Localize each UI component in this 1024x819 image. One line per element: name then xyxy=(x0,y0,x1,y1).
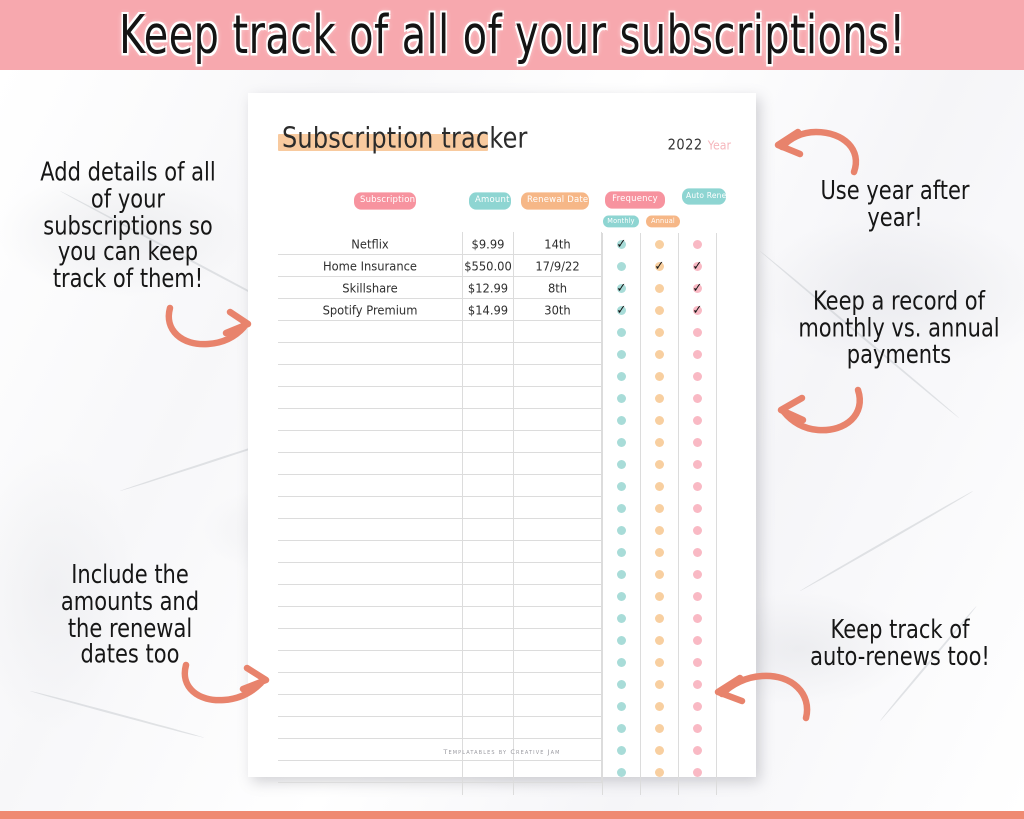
dot-marker xyxy=(655,416,664,425)
dot-marker xyxy=(617,724,626,733)
dot-marker xyxy=(693,438,702,447)
cell-renewal-date[interactable] xyxy=(513,474,602,497)
checkbox-monthly[interactable] xyxy=(602,255,640,277)
column-header-auto-renew: Auto Renew? xyxy=(682,188,726,204)
dot-marker xyxy=(655,350,664,359)
checkbox-monthly[interactable] xyxy=(602,365,640,387)
table-row[interactable] xyxy=(278,607,602,629)
table-row[interactable] xyxy=(278,431,602,453)
table-row[interactable] xyxy=(278,563,602,585)
cell-renewal-date[interactable] xyxy=(513,584,602,607)
checkbox-monthly[interactable] xyxy=(602,651,640,673)
column-divider xyxy=(513,233,514,795)
dot-marker xyxy=(655,592,664,601)
checkbox-monthly[interactable] xyxy=(602,673,640,695)
dot-marker xyxy=(693,548,702,557)
checkbox-annual[interactable] xyxy=(640,431,678,453)
checkbox-monthly[interactable]: ✓ xyxy=(602,299,640,321)
table-row[interactable] xyxy=(278,585,602,607)
frequency-annual-column: ✓ xyxy=(640,233,678,795)
cell-amount[interactable]: $550.00 xyxy=(462,254,513,277)
banner-headline: Keep track of all of your subscriptions! xyxy=(119,4,906,66)
checkmark-icon: ✓ xyxy=(692,282,702,295)
cell-amount[interactable] xyxy=(462,584,513,607)
checkbox-monthly[interactable] xyxy=(602,695,640,717)
dot-marker xyxy=(693,592,702,601)
dot-marker xyxy=(655,548,664,557)
frequency-monthly-column: ✓✓✓ xyxy=(602,233,640,795)
checkbox-annual[interactable] xyxy=(640,695,678,717)
cell-amount[interactable] xyxy=(462,628,513,651)
cell-renewal-date[interactable] xyxy=(513,430,602,453)
dot-marker xyxy=(655,372,664,381)
dot-marker xyxy=(693,724,702,733)
cell-amount[interactable]: $14.99 xyxy=(462,298,513,321)
dot-marker xyxy=(655,614,664,623)
dot-marker xyxy=(617,328,626,337)
cell-renewal-date[interactable]: 14th xyxy=(513,232,602,255)
dot-marker xyxy=(617,658,626,667)
checkbox-annual[interactable] xyxy=(640,453,678,475)
checkmark-icon: ✓ xyxy=(616,238,626,251)
checkbox-monthly[interactable] xyxy=(602,563,640,585)
checkbox-auto-renew[interactable] xyxy=(678,453,716,475)
checkbox-auto-renew[interactable] xyxy=(678,563,716,585)
cell-amount[interactable] xyxy=(462,386,513,409)
checkbox-annual[interactable] xyxy=(640,673,678,695)
checkbox-annual[interactable] xyxy=(640,651,678,673)
checkbox-monthly[interactable]: ✓ xyxy=(602,277,640,299)
page-title: Subscription tracker xyxy=(282,121,528,154)
checkbox-auto-renew[interactable] xyxy=(678,585,716,607)
table-row[interactable] xyxy=(278,695,602,717)
dot-marker xyxy=(693,328,702,337)
column-header-renewal-date: Renewal Date xyxy=(521,192,589,210)
cell-renewal-date[interactable] xyxy=(513,342,602,365)
checkbox-annual[interactable] xyxy=(640,629,678,651)
checkbox-auto-renew[interactable] xyxy=(678,497,716,519)
checkbox-monthly[interactable] xyxy=(602,629,640,651)
cell-renewal-date[interactable] xyxy=(513,650,602,673)
dot-marker xyxy=(617,394,626,403)
checkmark-icon: ✓ xyxy=(616,304,626,317)
year-label: Year xyxy=(708,138,731,153)
arrow-top-left xyxy=(160,300,260,352)
year-value: 2022 xyxy=(668,137,703,154)
checkbox-auto-renew[interactable]: ✓ xyxy=(678,277,716,299)
cell-renewal-date[interactable] xyxy=(513,606,602,629)
checkbox-annual[interactable] xyxy=(640,475,678,497)
header-banner: Keep track of all of your subscriptions! xyxy=(0,0,1024,70)
arrow-bottom-left xyxy=(178,655,278,707)
dot-marker xyxy=(693,702,702,711)
cell-renewal-date[interactable] xyxy=(513,628,602,651)
cell-amount[interactable] xyxy=(462,430,513,453)
checkbox-annual[interactable] xyxy=(640,387,678,409)
cell-renewal-date[interactable] xyxy=(513,386,602,409)
cell-subscription[interactable]: Home Insurance xyxy=(278,258,462,273)
dot-marker xyxy=(655,702,664,711)
checkbox-auto-renew[interactable] xyxy=(678,761,716,783)
checkbox-auto-renew[interactable] xyxy=(678,387,716,409)
checkbox-monthly[interactable] xyxy=(602,585,640,607)
cell-renewal-date[interactable] xyxy=(513,716,602,739)
cell-renewal-date[interactable] xyxy=(513,452,602,475)
dot-marker xyxy=(693,394,702,403)
dot-marker xyxy=(693,372,702,381)
dot-marker xyxy=(693,350,702,359)
column-header-subscription: Subscription xyxy=(354,192,416,210)
dot-marker xyxy=(617,416,626,425)
checkmark-icon: ✓ xyxy=(616,282,626,295)
dot-marker xyxy=(617,460,626,469)
checkbox-auto-renew[interactable] xyxy=(678,519,716,541)
dot-marker xyxy=(617,548,626,557)
cell-amount[interactable] xyxy=(462,672,513,695)
column-header-annual: Annual xyxy=(646,216,680,228)
dot-marker xyxy=(693,768,702,777)
cell-amount[interactable] xyxy=(462,452,513,475)
annotation-bottom-left: Include the amounts and the renewal date… xyxy=(44,562,216,669)
checkbox-annual[interactable] xyxy=(640,365,678,387)
dot-marker xyxy=(655,658,664,667)
table-row[interactable] xyxy=(278,387,602,409)
cell-amount[interactable]: $9.99 xyxy=(462,232,513,255)
checkbox-auto-renew[interactable] xyxy=(678,475,716,497)
checkbox-annual[interactable] xyxy=(640,233,678,255)
checkbox-annual[interactable] xyxy=(640,497,678,519)
cell-amount[interactable] xyxy=(462,562,513,585)
cell-renewal-date[interactable] xyxy=(513,760,602,783)
table-row[interactable]: Spotify Premium$14.9930th xyxy=(278,299,602,321)
table-row[interactable] xyxy=(278,519,602,541)
cell-renewal-date[interactable] xyxy=(513,496,602,519)
column-header-amount: Amount xyxy=(469,192,511,210)
cell-renewal-date[interactable] xyxy=(513,364,602,387)
checkbox-monthly[interactable] xyxy=(602,519,640,541)
checkbox-auto-renew[interactable] xyxy=(678,365,716,387)
dot-marker xyxy=(617,262,626,271)
checkbox-monthly[interactable] xyxy=(602,431,640,453)
cell-renewal-date[interactable]: 8th xyxy=(513,276,602,299)
dot-marker xyxy=(693,482,702,491)
dot-marker xyxy=(617,592,626,601)
checkmark-icon: ✓ xyxy=(692,260,702,273)
cell-renewal-date[interactable] xyxy=(513,562,602,585)
checkbox-auto-renew[interactable] xyxy=(678,409,716,431)
checkbox-annual[interactable] xyxy=(640,519,678,541)
table-row[interactable] xyxy=(278,475,602,497)
dot-marker xyxy=(693,504,702,513)
auto-renew-column: ✓✓✓ xyxy=(678,233,716,795)
dot-marker xyxy=(655,460,664,469)
checkbox-auto-renew[interactable] xyxy=(678,607,716,629)
dot-marker xyxy=(617,702,626,711)
cell-renewal-date[interactable] xyxy=(513,672,602,695)
dot-marker xyxy=(655,636,664,645)
cell-renewal-date[interactable] xyxy=(513,518,602,541)
dot-marker xyxy=(617,526,626,535)
annotation-top-right: Use year after year! xyxy=(790,178,1000,231)
dot-marker xyxy=(693,658,702,667)
sheet-footer: Templatables by Creative Jam xyxy=(248,748,756,756)
dot-marker xyxy=(655,438,664,447)
cell-amount[interactable] xyxy=(462,650,513,673)
checkbox-annual[interactable] xyxy=(640,541,678,563)
dot-marker xyxy=(655,328,664,337)
table-row[interactable] xyxy=(278,541,602,563)
checkbox-auto-renew[interactable] xyxy=(678,343,716,365)
dot-marker xyxy=(655,570,664,579)
checkbox-auto-renew[interactable]: ✓ xyxy=(678,299,716,321)
checkbox-annual[interactable] xyxy=(640,607,678,629)
cell-amount[interactable] xyxy=(462,474,513,497)
checkbox-annual[interactable] xyxy=(640,717,678,739)
checkbox-monthly[interactable] xyxy=(602,343,640,365)
dot-marker xyxy=(693,460,702,469)
column-divider xyxy=(462,233,463,795)
cell-amount[interactable] xyxy=(462,716,513,739)
checkbox-annual[interactable] xyxy=(640,563,678,585)
checkbox-auto-renew[interactable] xyxy=(678,233,716,255)
table-row[interactable] xyxy=(278,629,602,651)
cell-amount[interactable] xyxy=(462,342,513,365)
checkbox-auto-renew[interactable] xyxy=(678,431,716,453)
table-row[interactable] xyxy=(278,761,602,783)
checkbox-auto-renew[interactable] xyxy=(678,651,716,673)
table-row[interactable] xyxy=(278,343,602,365)
dot-marker xyxy=(693,680,702,689)
cell-amount[interactable] xyxy=(462,540,513,563)
cell-amount[interactable] xyxy=(462,606,513,629)
table-row[interactable] xyxy=(278,673,602,695)
checkbox-auto-renew[interactable] xyxy=(678,695,716,717)
dot-marker xyxy=(617,636,626,645)
cell-subscription[interactable]: Spotify Premium xyxy=(278,302,462,317)
dot-marker xyxy=(617,438,626,447)
dot-marker xyxy=(617,680,626,689)
table-row[interactable] xyxy=(278,321,602,343)
cell-renewal-date[interactable] xyxy=(513,408,602,431)
table-row[interactable] xyxy=(278,497,602,519)
checkbox-annual[interactable] xyxy=(640,299,678,321)
table-row[interactable] xyxy=(278,365,602,387)
dot-marker xyxy=(655,482,664,491)
checkbox-annual[interactable] xyxy=(640,277,678,299)
checkbox-monthly[interactable] xyxy=(602,453,640,475)
dot-marker xyxy=(617,768,626,777)
cell-renewal-date[interactable] xyxy=(513,540,602,563)
checkbox-monthly[interactable] xyxy=(602,761,640,783)
table-row[interactable] xyxy=(278,717,602,739)
cell-amount[interactable] xyxy=(462,760,513,783)
checkbox-auto-renew[interactable] xyxy=(678,717,716,739)
annotation-top-left: Add details of all of your subscriptions… xyxy=(14,160,242,293)
checkbox-auto-renew[interactable] xyxy=(678,321,716,343)
checkbox-monthly[interactable] xyxy=(602,475,640,497)
checkbox-monthly[interactable] xyxy=(602,497,640,519)
annotation-bottom-right: Keep track of auto-renews too! xyxy=(792,617,1008,670)
cell-subscription[interactable]: Skillshare xyxy=(278,280,462,295)
cell-renewal-date[interactable]: 17/9/22 xyxy=(513,254,602,277)
column-header-frequency: Frequency xyxy=(605,191,665,209)
cell-amount[interactable] xyxy=(462,364,513,387)
column-header-monthly: Monthly xyxy=(603,216,639,228)
tracker-table: Netflix$9.9914thHome Insurance$550.0017/… xyxy=(278,233,602,783)
table-row[interactable]: Skillshare$12.998th xyxy=(278,277,602,299)
checkmark-icon: ✓ xyxy=(692,304,702,317)
dot-marker xyxy=(693,240,702,249)
checkbox-auto-renew[interactable]: ✓ xyxy=(678,255,716,277)
checkmark-icon: ✓ xyxy=(654,260,664,273)
subscription-tracker-sheet: Subscription tracker 2022 Year Subscript… xyxy=(248,93,756,777)
dot-marker xyxy=(617,482,626,491)
checkbox-annual[interactable] xyxy=(640,585,678,607)
cell-renewal-date[interactable] xyxy=(513,320,602,343)
checkbox-annual[interactable] xyxy=(640,321,678,343)
checkbox-monthly[interactable] xyxy=(602,387,640,409)
cell-renewal-date[interactable]: 30th xyxy=(513,298,602,321)
dot-marker xyxy=(655,526,664,535)
cell-amount[interactable] xyxy=(462,408,513,431)
dot-marker xyxy=(655,768,664,777)
cell-amount[interactable] xyxy=(462,320,513,343)
arrow-top-right xyxy=(772,124,864,182)
table-row[interactable]: Netflix$9.9914th xyxy=(278,233,602,255)
arrow-middle-right xyxy=(776,378,868,438)
cell-subscription[interactable]: Netflix xyxy=(278,236,462,251)
annotation-middle-right: Keep a record of monthly vs. annual paym… xyxy=(786,289,1012,369)
dot-marker xyxy=(655,394,664,403)
table-row[interactable] xyxy=(278,453,602,475)
dot-marker xyxy=(693,636,702,645)
checkbox-auto-renew[interactable] xyxy=(678,629,716,651)
checkbox-annual[interactable]: ✓ xyxy=(640,255,678,277)
table-row[interactable]: Home Insurance$550.0017/9/22 xyxy=(278,255,602,277)
checkbox-monthly[interactable] xyxy=(602,541,640,563)
dot-marker xyxy=(617,570,626,579)
cell-amount[interactable] xyxy=(462,518,513,541)
dot-marker xyxy=(655,240,664,249)
table-row[interactable] xyxy=(278,651,602,673)
dot-marker xyxy=(693,526,702,535)
bottom-accent-bar xyxy=(0,811,1024,819)
cell-amount[interactable] xyxy=(462,496,513,519)
year-field[interactable]: 2022 Year xyxy=(668,138,731,153)
checkbox-annual[interactable] xyxy=(640,343,678,365)
cell-renewal-date[interactable] xyxy=(513,694,602,717)
cell-amount[interactable] xyxy=(462,694,513,717)
checkbox-monthly[interactable]: ✓ xyxy=(602,233,640,255)
dot-marker xyxy=(693,570,702,579)
dot-marker xyxy=(655,284,664,293)
dot-marker xyxy=(655,504,664,513)
dot-marker xyxy=(617,372,626,381)
checkbox-annual[interactable] xyxy=(640,409,678,431)
dot-marker xyxy=(655,306,664,315)
checkbox-monthly[interactable] xyxy=(602,321,640,343)
dot-marker xyxy=(617,504,626,513)
checkbox-monthly[interactable] xyxy=(602,607,640,629)
checkbox-auto-renew[interactable] xyxy=(678,541,716,563)
checkbox-annual[interactable] xyxy=(640,761,678,783)
dot-marker xyxy=(693,614,702,623)
cell-amount[interactable]: $12.99 xyxy=(462,276,513,299)
arrow-bottom-right xyxy=(714,668,814,726)
dot-marker xyxy=(617,350,626,359)
table-row[interactable] xyxy=(278,409,602,431)
checkbox-monthly[interactable] xyxy=(602,717,640,739)
dot-marker xyxy=(655,680,664,689)
dot-marker xyxy=(617,614,626,623)
dot-marker xyxy=(693,416,702,425)
checkbox-auto-renew[interactable] xyxy=(678,673,716,695)
dot-marker xyxy=(655,724,664,733)
checkbox-monthly[interactable] xyxy=(602,409,640,431)
